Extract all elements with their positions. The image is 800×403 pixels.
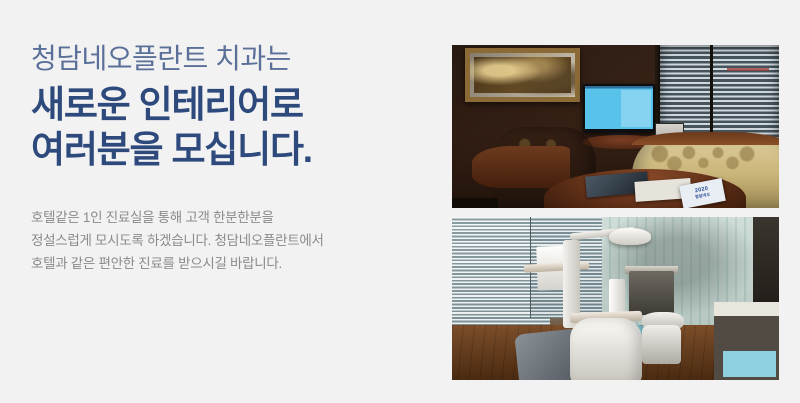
window-accent: [727, 68, 770, 71]
monitor-screen: [585, 86, 653, 129]
treatment-room-photo: [452, 217, 779, 380]
headline-line-1: 새로운 인테리어로: [31, 84, 303, 125]
window-mullion: [710, 45, 713, 143]
right-wall-panel: [753, 217, 779, 308]
copy-column: 청담네오플란트 치과는 새로운 인테리어로 여러분을 모십니다. 호텔같은 1인…: [31, 40, 431, 275]
assistant-stool: [642, 325, 681, 364]
supply-bin: [723, 351, 775, 377]
body-copy: 호텔같은 1인 진료실을 통해 고객 한분한분을 정설스럽게 모시도록 하겠습니…: [31, 206, 431, 276]
headline-line-2: 여러분을 모십니다.: [31, 127, 431, 172]
dental-chair-body: [570, 318, 642, 380]
body-line-3: 호텔과 같은 편안한 진료를 받으시길 바랍니다.: [31, 252, 431, 275]
equipment-cart: [629, 271, 675, 315]
desktop-monitor: [583, 84, 655, 133]
armchair-wood-arm: [472, 146, 570, 188]
brochure-subtitle-label: 청담네오: [695, 192, 711, 201]
baseboard: [452, 198, 498, 208]
dental-light-head: [609, 228, 652, 244]
eyebrow-headline: 청담네오플란트 치과는: [31, 40, 431, 78]
photo-column: 2020 청담네오: [452, 45, 779, 380]
consultation-room-photo: 2020 청담네오: [452, 45, 779, 208]
framed-artwork: [465, 48, 579, 102]
dispenser-cylinder: [609, 279, 625, 315]
main-headline: 새로운 인테리어로 여러분을 모십니다.: [31, 82, 431, 172]
promo-banner: 청담네오플란트 치과는 새로운 인테리어로 여러분을 모십니다. 호텔같은 1인…: [0, 0, 800, 403]
body-line-2: 정설스럽게 모시도록 하겠습니다. 청담네오플란트에서: [31, 229, 431, 252]
body-line-1: 호텔같은 1인 진료실을 통해 고객 한분한분을: [31, 206, 431, 229]
